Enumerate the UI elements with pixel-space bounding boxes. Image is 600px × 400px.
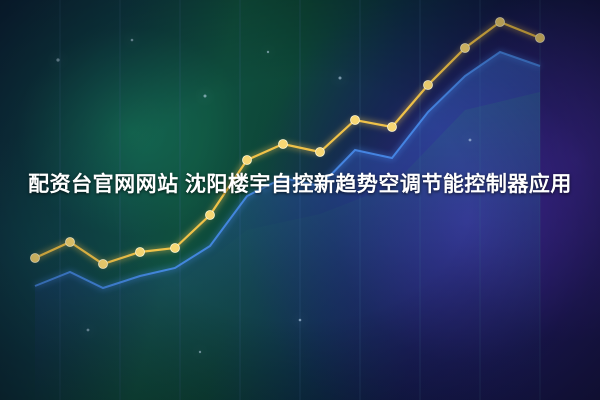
chart-area-fill-secondary: [35, 92, 540, 400]
image-canvas: 配资台官网网站 沈阳楼宇自控新趋势空调节能控制器应用: [0, 0, 600, 400]
overlay-headline: 配资台官网网站 沈阳楼宇自控新趋势空调节能控制器应用: [0, 168, 600, 202]
